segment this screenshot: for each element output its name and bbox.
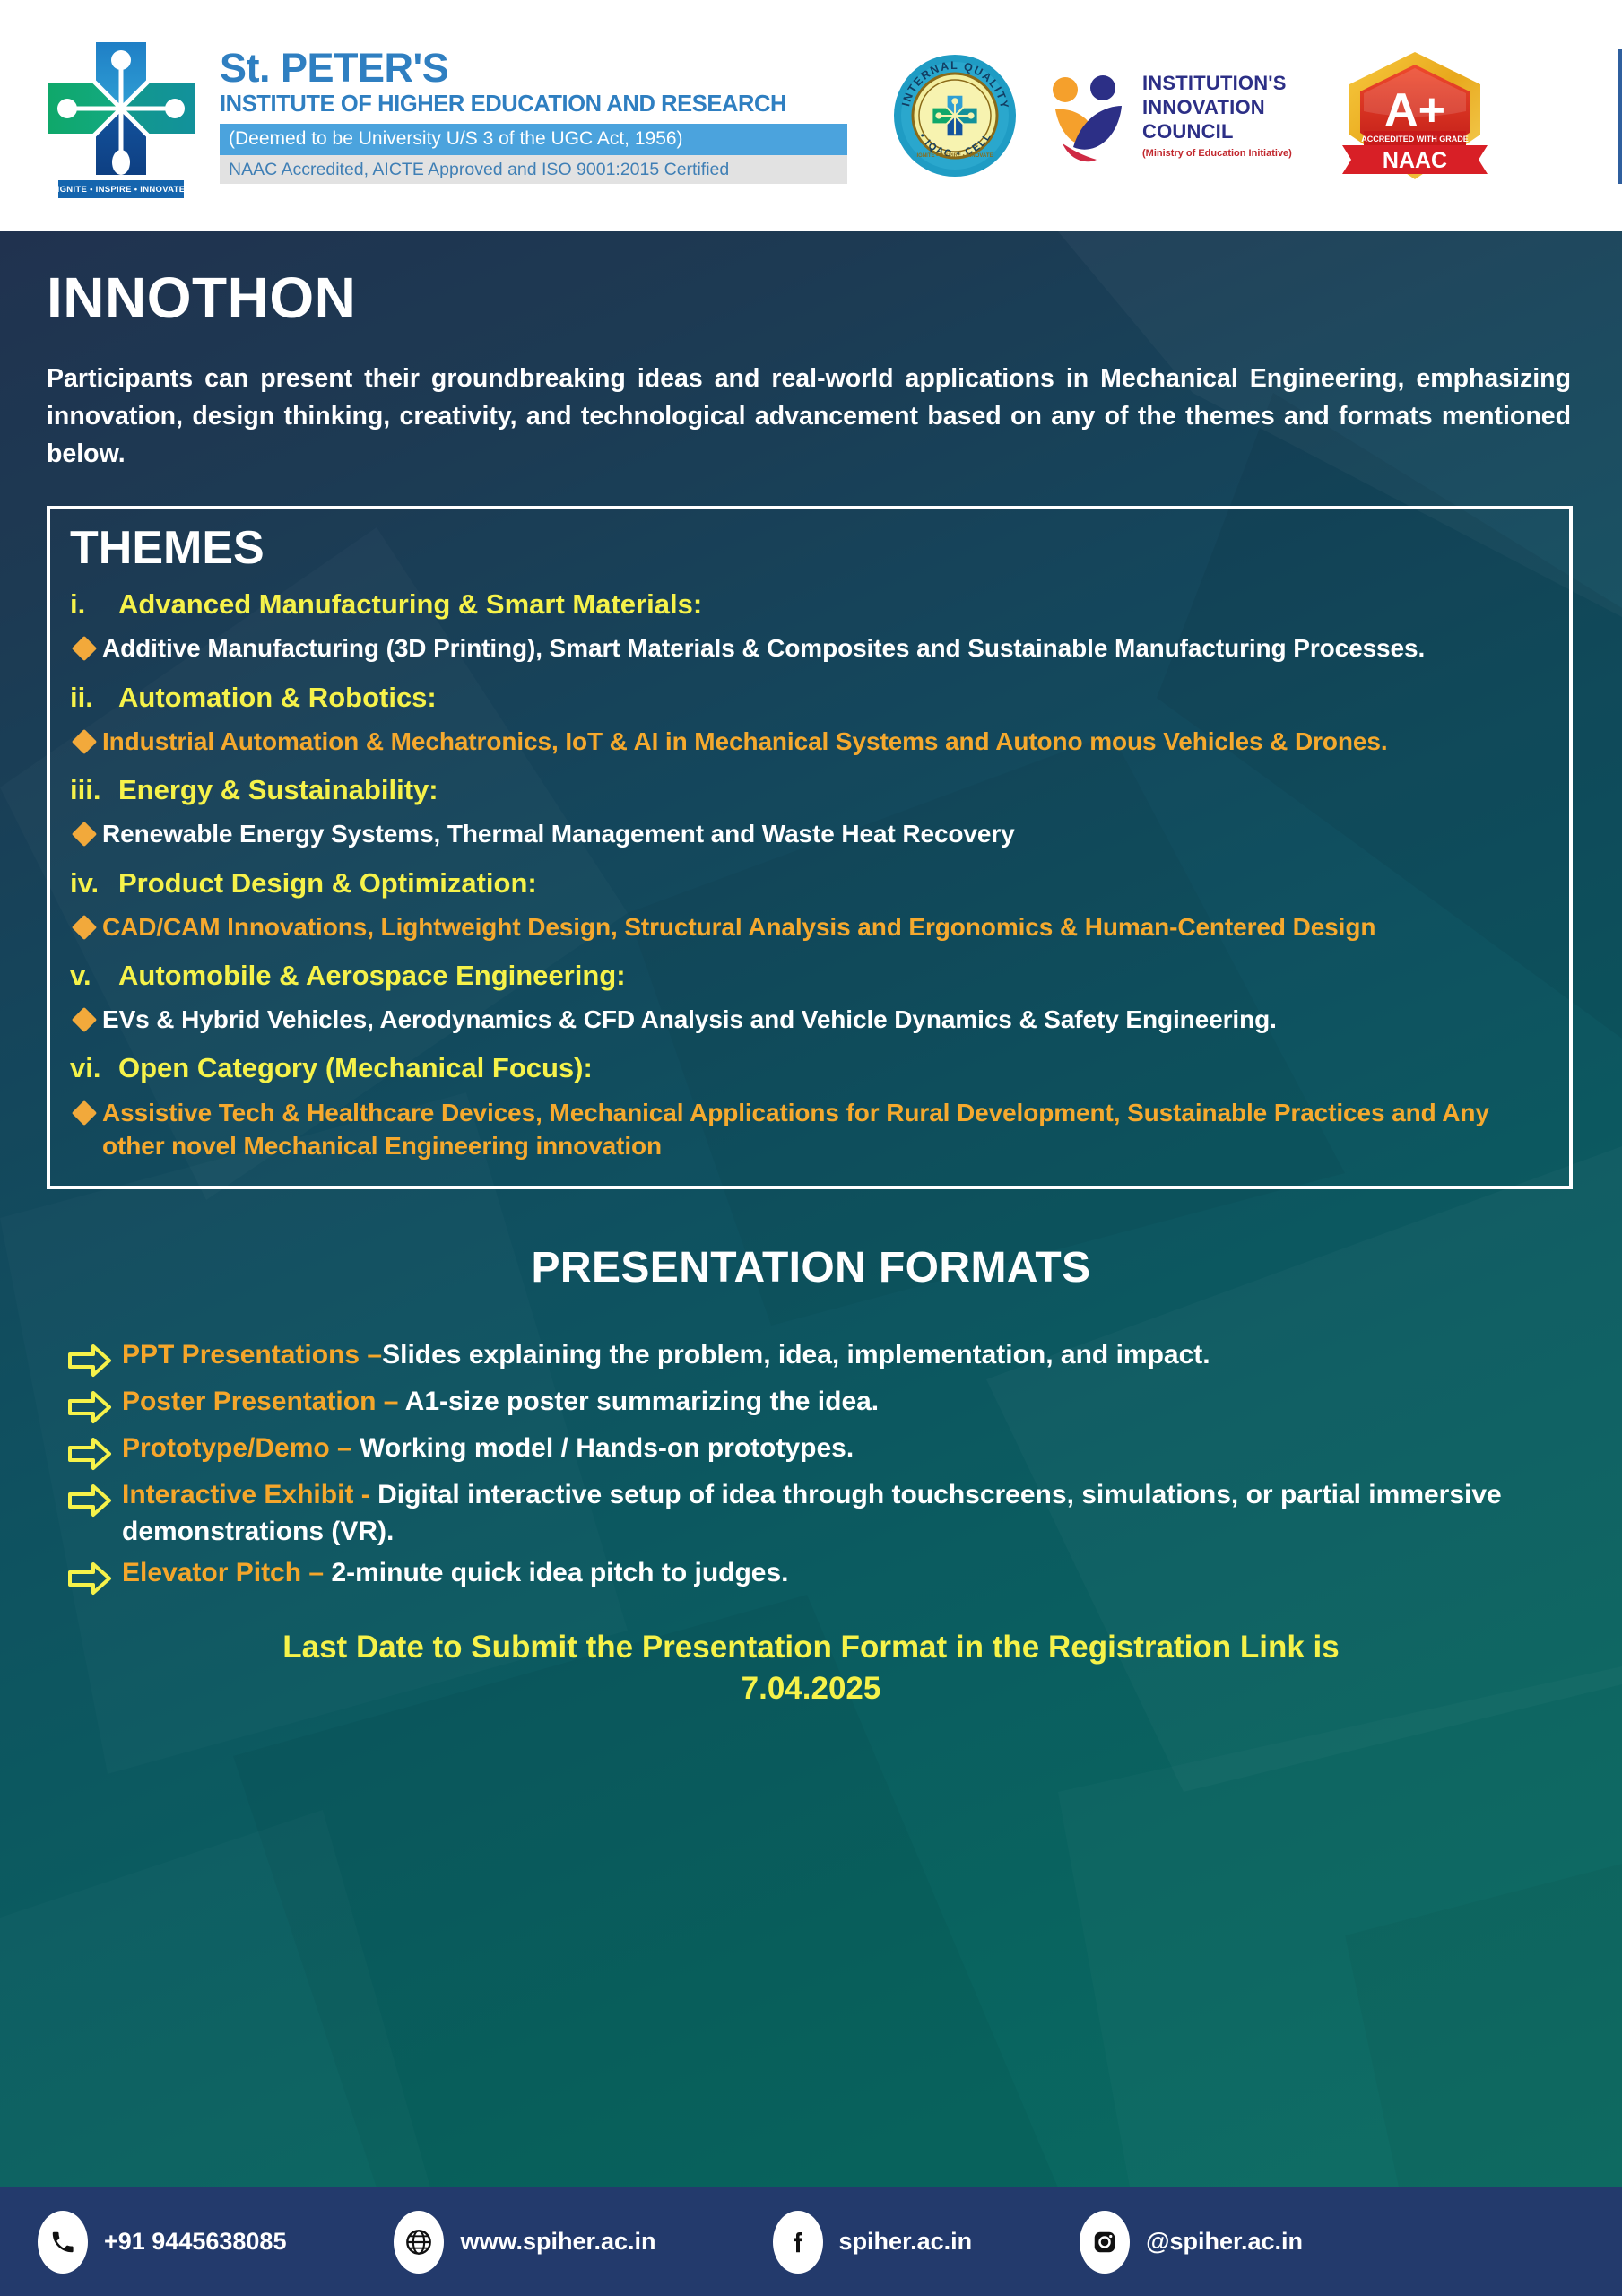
contact-facebook[interactable]: spiher.ac.in: [773, 2211, 973, 2274]
diamond-bullet-icon: [72, 636, 97, 661]
theme-heading: iii. Energy & Sustainability:: [70, 773, 1549, 806]
theme-entry: vi. Open Category (Mechanical Focus): As…: [70, 1051, 1549, 1162]
theme-title: Open Category (Mechanical Focus):: [118, 1051, 593, 1084]
iic-ministry-note: (Ministry of Education Initiative): [1142, 148, 1292, 160]
contact-instagram[interactable]: @spiher.ac.in: [1080, 2211, 1303, 2274]
theme-bullet: Additive Manufacturing (3D Printing), Sm…: [70, 631, 1549, 665]
theme-title: Advanced Manufacturing & Smart Materials…: [118, 587, 702, 621]
iic-line-3: COUNCIL: [1142, 120, 1292, 144]
institute-branding: IGNITE • INSPIRE • INNOVATE St. PETER'S …: [0, 35, 847, 196]
iic-line-1: INSTITUTION'S: [1142, 72, 1292, 96]
facebook-icon: [773, 2211, 823, 2274]
format-row: Interactive Exhibit - Digital interactiv…: [66, 1477, 1575, 1550]
format-label: Poster Presentation: [122, 1387, 376, 1416]
theme-heading: i. Advanced Manufacturing & Smart Materi…: [70, 587, 1549, 621]
format-text: Interactive Exhibit - Digital interactiv…: [122, 1477, 1575, 1550]
instagram-handle: @spiher.ac.in: [1146, 2228, 1303, 2256]
contact-footer: +91 9445638085 www.spiher.ac.in spiher.a…: [0, 2187, 1622, 2296]
theme-entry: i. Advanced Manufacturing & Smart Materi…: [70, 587, 1549, 665]
presentation-formats-heading: PRESENTATION FORMATS: [47, 1243, 1575, 1292]
instagram-icon: [1080, 2211, 1130, 2274]
format-dash: –: [376, 1387, 404, 1416]
globe-icon: [394, 2211, 444, 2274]
theme-bullet: EVs & Hybrid Vehicles, Aerodynamics & CF…: [70, 1003, 1549, 1036]
theme-body: Renewable Energy Systems, Thermal Manage…: [102, 817, 1015, 850]
format-desc: 2-minute quick idea pitch to judges.: [331, 1558, 788, 1587]
institute-wordmark: St. PETER'S INSTITUTE OF HIGHER EDUCATIO…: [220, 48, 847, 184]
theme-body: EVs & Hybrid Vehicles, Aerodynamics & CF…: [102, 1003, 1277, 1036]
svg-text:NAAC: NAAC: [1383, 148, 1447, 173]
theme-number: iv.: [70, 866, 118, 900]
diamond-bullet-icon: [72, 1100, 97, 1125]
diamond-bullet-icon: [72, 1007, 97, 1032]
theme-body: Assistive Tech & Healthcare Devices, Mec…: [102, 1096, 1549, 1162]
svg-text:IGNITE • INSPIRE • INNOVATE: IGNITE • INSPIRE • INNOVATE: [917, 153, 993, 159]
theme-title: Product Design & Optimization:: [118, 866, 537, 900]
theme-heading: ii. Automation & Robotics:: [70, 681, 1549, 714]
page-header: IGNITE • INSPIRE • INNOVATE St. PETER'S …: [0, 0, 1622, 231]
poster-body: INNOTHON Participants can present their …: [0, 231, 1622, 2187]
phone-icon: [38, 2211, 88, 2274]
theme-heading: iv. Product Design & Optimization:: [70, 866, 1549, 900]
format-dash: –: [301, 1558, 331, 1587]
theme-body: Additive Manufacturing (3D Printing), Sm…: [102, 631, 1425, 665]
contact-website[interactable]: www.spiher.ac.in: [394, 2211, 655, 2274]
institute-subtitle: INSTITUTE OF HIGHER EDUCATION AND RESEAR…: [220, 91, 847, 117]
format-label: Interactive Exhibit: [122, 1480, 353, 1509]
diamond-bullet-icon: [72, 822, 97, 847]
format-label: Prototype/Demo: [122, 1433, 330, 1463]
naac-grade-badge-icon: A+ ACCREDITED WITH GRADE NAAC: [1337, 48, 1494, 183]
format-text: Elevator Pitch – 2-minute quick idea pit…: [122, 1555, 789, 1592]
phone-number: +91 9445638085: [104, 2228, 286, 2256]
spiher-logo-icon: IGNITE • INSPIRE • INNOVATE: [40, 35, 202, 196]
theme-title: Energy & Sustainability:: [118, 773, 438, 806]
svg-text:A+: A+: [1384, 84, 1445, 136]
theme-bullet: Renewable Energy Systems, Thermal Manage…: [70, 817, 1549, 850]
theme-body: Industrial Automation & Mechatronics, Io…: [102, 725, 1388, 758]
institute-name: St. PETER'S: [220, 48, 847, 88]
theme-number: ii.: [70, 681, 118, 714]
logo-tagline: IGNITE • INSPIRE • INNOVATE: [58, 180, 184, 198]
theme-title: Automobile & Aerospace Engineering:: [118, 959, 626, 992]
theme-number: vi.: [70, 1051, 118, 1084]
format-row: Prototype/Demo – Working model / Hands-o…: [66, 1431, 1575, 1472]
format-row: PPT Presentations –Slides explaining the…: [66, 1337, 1575, 1378]
diamond-bullet-icon: [72, 915, 97, 940]
last-date-value: 7.04.2025: [47, 1668, 1575, 1709]
theme-title: Automation & Robotics:: [118, 681, 437, 714]
theme-body: CAD/CAM Innovations, Lightweight Design,…: [102, 910, 1375, 944]
format-row: Elevator Pitch – 2-minute quick idea pit…: [66, 1555, 1575, 1596]
format-text: Prototype/Demo – Working model / Hands-o…: [122, 1431, 854, 1467]
arrow-right-icon: [66, 1483, 113, 1518]
arrow-right-icon: [66, 1561, 113, 1596]
page-title: INNOTHON: [47, 269, 1575, 326]
iic-logo: INSTITUTION'S INNOVATION COUNCIL (Minist…: [1046, 66, 1292, 165]
iic-line-2: INNOVATION: [1142, 96, 1292, 120]
contact-phone[interactable]: +91 9445638085: [38, 2211, 286, 2274]
format-label: Elevator Pitch: [122, 1558, 301, 1587]
theme-bullet: CAD/CAM Innovations, Lightweight Design,…: [70, 910, 1549, 944]
theme-entry: iv. Product Design & Optimization: CAD/C…: [70, 866, 1549, 944]
theme-heading: v. Automobile & Aerospace Engineering:: [70, 959, 1549, 992]
arrow-right-icon: [66, 1343, 113, 1378]
format-dash: -: [353, 1480, 377, 1509]
theme-entry: iii. Energy & Sustainability: Renewable …: [70, 773, 1549, 850]
format-desc: Slides explaining the problem, idea, imp…: [382, 1340, 1210, 1370]
diamond-bullet-icon: [72, 729, 97, 754]
theme-heading: vi. Open Category (Mechanical Focus):: [70, 1051, 1549, 1084]
deemed-university-bar: (Deemed to be University U/S 3 of the UG…: [220, 124, 847, 154]
format-dash: –: [360, 1340, 382, 1370]
intro-paragraph: Participants can present their groundbre…: [47, 361, 1571, 474]
iqac-seal-icon: INTERNAL QUALITY ASSURANCE • IQAC • CELL: [892, 53, 1018, 178]
iic-text-block: INSTITUTION'S INNOVATION COUNCIL (Minist…: [1142, 72, 1292, 160]
website-url: www.spiher.ac.in: [460, 2228, 655, 2256]
last-date-line-1: Last Date to Submit the Presentation For…: [282, 1630, 1339, 1665]
theme-bullet: Industrial Automation & Mechatronics, Io…: [70, 725, 1549, 758]
last-date-notice: Last Date to Submit the Presentation For…: [47, 1627, 1575, 1709]
spiher-cross-glyph: [40, 35, 202, 196]
accreditation-bar: NAAC Accredited, AICTE Approved and ISO …: [220, 155, 847, 184]
themes-box: THEMES i. Advanced Manufacturing & Smart…: [47, 506, 1573, 1189]
theme-bullet: Assistive Tech & Healthcare Devices, Mec…: [70, 1096, 1549, 1162]
format-dash: –: [330, 1433, 360, 1463]
theme-number: iii.: [70, 773, 118, 806]
svg-text:ACCREDITED WITH GRADE: ACCREDITED WITH GRADE: [1361, 135, 1469, 143]
theme-entry: ii. Automation & Robotics: Industrial Au…: [70, 681, 1549, 758]
theme-number: i.: [70, 587, 118, 621]
format-label: PPT Presentations: [122, 1340, 360, 1370]
format-text: Poster Presentation – A1-size poster sum…: [122, 1384, 879, 1421]
header-divider: [1618, 49, 1622, 184]
format-desc: Working model / Hands-on prototypes.: [360, 1433, 854, 1463]
arrow-right-icon: [66, 1389, 113, 1425]
iic-figures-icon: [1046, 66, 1132, 165]
format-row: Poster Presentation – A1-size poster sum…: [66, 1384, 1575, 1425]
format-text: PPT Presentations –Slides explaining the…: [122, 1337, 1210, 1374]
themes-heading: THEMES: [70, 524, 1549, 573]
format-desc: A1-size poster summarizing the idea.: [405, 1387, 879, 1416]
theme-entry: v. Automobile & Aerospace Engineering: E…: [70, 959, 1549, 1036]
theme-number: v.: [70, 959, 118, 992]
presentation-formats-list: PPT Presentations –Slides explaining the…: [47, 1337, 1575, 1596]
facebook-handle: spiher.ac.in: [839, 2228, 973, 2256]
arrow-right-icon: [66, 1436, 113, 1472]
